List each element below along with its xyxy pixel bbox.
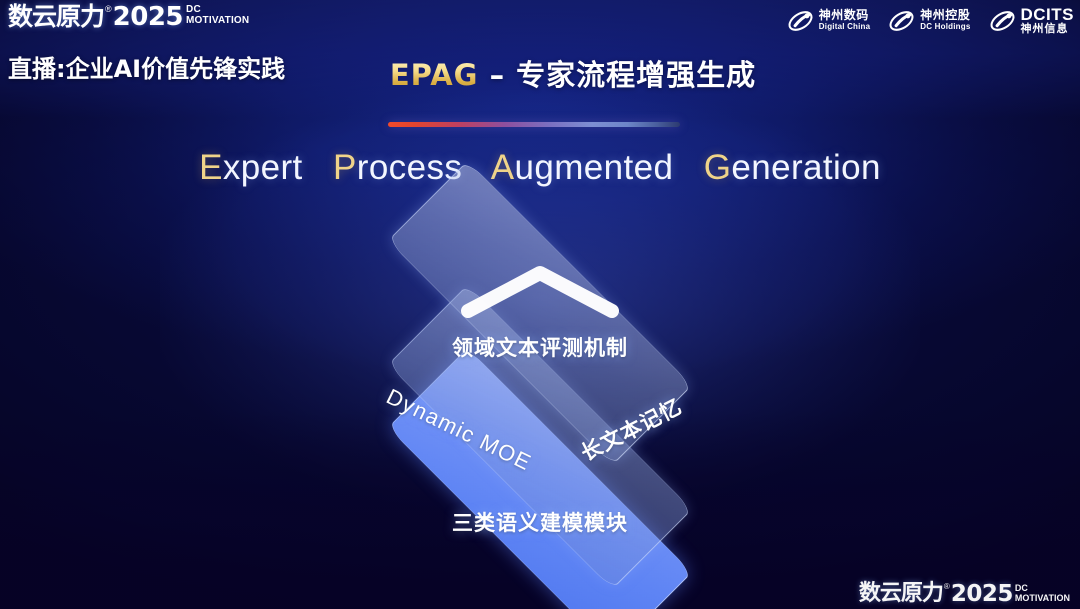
watermark-subtext: DC MOTIVATION [1015, 584, 1070, 603]
page-title-chinese: – 专家流程增强生成 [478, 58, 756, 92]
watermark-motivation: MOTIVATION [1015, 593, 1070, 603]
subtitle-initial: G [704, 148, 732, 187]
subtitle-space [472, 148, 482, 187]
subtitle-word-augmented: Augmented [491, 148, 674, 187]
subtitle-rest: rocess [357, 148, 463, 187]
partner-logo-dcits: DCITS 神州信息 [989, 6, 1075, 35]
partner-en-label: DCITS [1021, 6, 1075, 23]
brand-registered-mark: ® [105, 2, 112, 16]
partner-cn-label: 神州数码 [819, 9, 871, 22]
subtitle-rest: xpert [223, 148, 303, 187]
swoosh-logo-icon [888, 8, 915, 34]
title-divider [388, 122, 680, 127]
subtitle-initial: P [333, 148, 357, 187]
partner-cn-label: 神州信息 [1021, 23, 1075, 35]
watermark-dc: DC [1015, 584, 1070, 593]
subtitle-initial: A [491, 148, 515, 187]
slide-canvas: 数云原力 ® 2025 DC MOTIVATION 直播:企业AI价值先锋实践 … [0, 0, 1080, 609]
brand-logo-subtext: DC MOTIVATION [186, 5, 249, 26]
brand-logo-year: 2025 [113, 2, 183, 32]
swoosh-logo-icon [787, 8, 814, 34]
watermark-cn: 数云原力 [859, 581, 943, 607]
partner-logo-dc-holdings: 神州控股 DC Holdings [888, 8, 970, 34]
subtitle-word-expert: Expert [199, 148, 303, 187]
brand-logo: 数云原力 ® 2025 DC MOTIVATION [8, 2, 249, 32]
partner-text-digital-china: 神州数码 Digital China [819, 9, 871, 32]
partner-en-label: Digital China [819, 22, 871, 32]
page-title-acronym: EPAG [390, 58, 479, 92]
subtitle-word-generation: Generation [704, 148, 881, 187]
partner-cn-label: 神州控股 [920, 9, 970, 22]
brand-logo-cn: 数云原力 [8, 2, 104, 32]
partner-en-label: DC Holdings [920, 22, 970, 32]
subtitle-rest: eneration [731, 148, 881, 187]
swoosh-logo-icon [989, 8, 1016, 34]
watermark-logo: 数云原力 ® 2025 DC MOTIVATION [859, 581, 1070, 607]
subtitle-expanded-acronym: Expert Process Augmented Generation [0, 148, 1080, 188]
partner-logo-digital-china: 神州数码 Digital China [787, 8, 871, 34]
brand-logo-dc: DC [186, 5, 249, 15]
page-title: EPAG – 专家流程增强生成 [0, 52, 1080, 94]
background-bottom-shade [0, 409, 1080, 609]
partner-text-dcits: DCITS 神州信息 [1021, 6, 1075, 35]
watermark-year: 2025 [951, 581, 1013, 607]
subtitle-rest: ugmented [514, 148, 673, 187]
partner-text-dc-holdings: 神州控股 DC Holdings [920, 9, 970, 32]
partner-logo-group: 神州数码 Digital China 神州控股 DC Holdings [787, 6, 1074, 35]
watermark-registered-mark: ® [944, 581, 950, 593]
subtitle-initial: E [199, 148, 223, 187]
subtitle-word-process: Process [333, 148, 462, 187]
brand-logo-motivation: MOTIVATION [186, 15, 249, 26]
subtitle-space [683, 148, 693, 187]
subtitle-space [313, 148, 323, 187]
